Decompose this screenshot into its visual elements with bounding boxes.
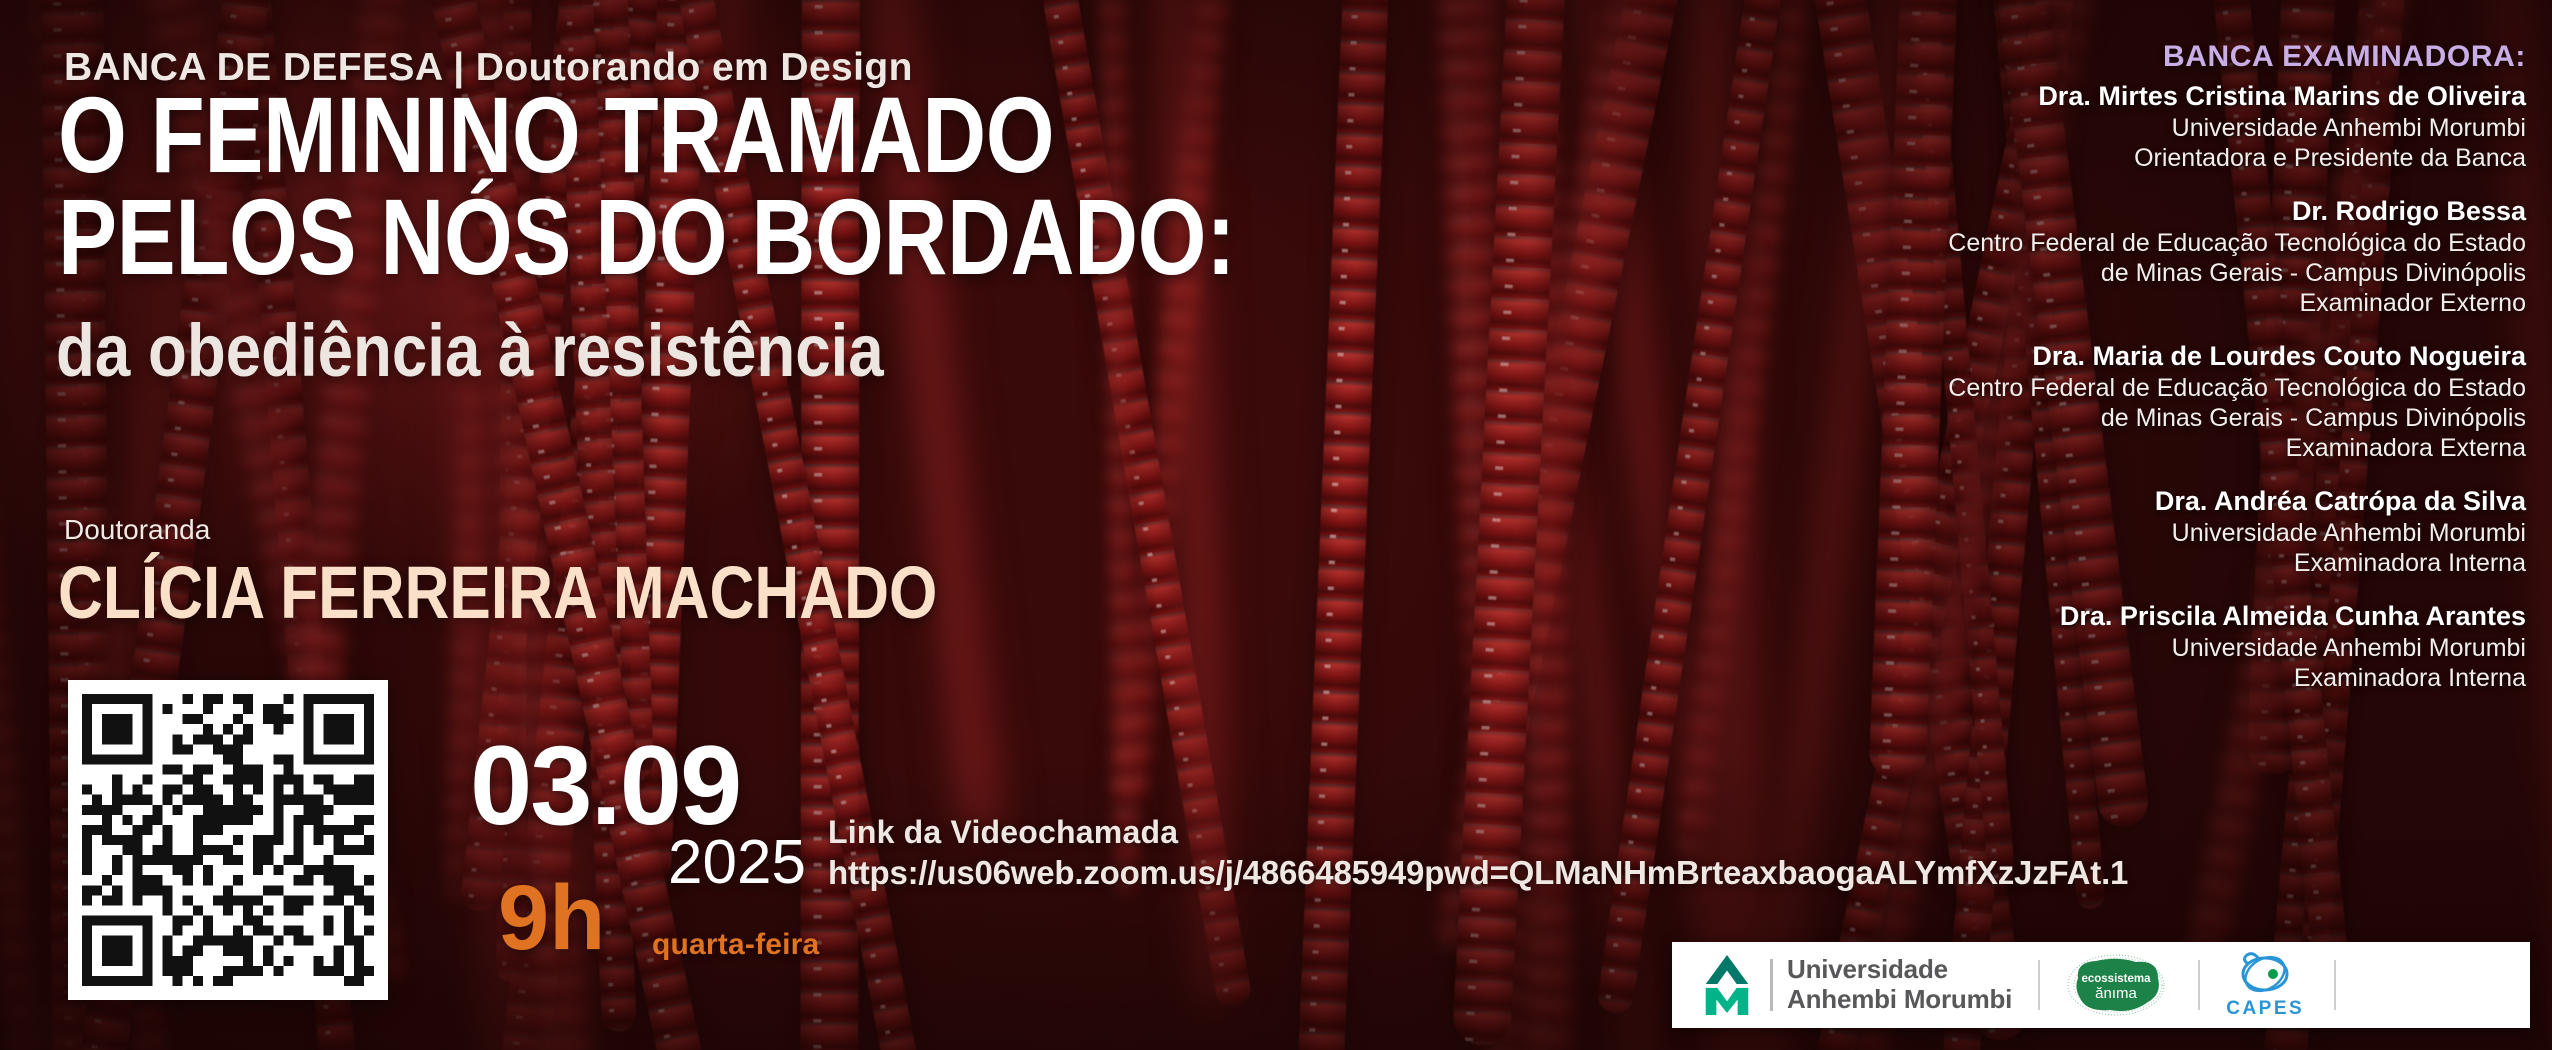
board-member-detail: Orientadora e Presidente da Banca (1886, 143, 2526, 173)
capes-logo: CAPES (2226, 950, 2304, 1020)
board-members-list: Dra. Mirtes Cristina Marins de OliveiraU… (1886, 80, 2526, 693)
board-member: Dr. Rodrigo BessaCentro Federal de Educa… (1886, 195, 2526, 318)
page-title: O FEMININO TRAMADO PELOS NÓS DO BORDADO: (58, 84, 1494, 287)
examination-board: BANCA EXAMINADORA: Dra. Mirtes Cristina … (1886, 40, 2526, 693)
event-weekday: quarta-feira (652, 928, 819, 962)
page-subtitle: da obediência à resistência (56, 314, 1018, 388)
board-member-name: Dra. Mirtes Cristina Marins de Oliveira (1886, 80, 2526, 113)
logo-separator-2 (2198, 960, 2200, 1010)
board-member-detail: Examinadora Interna (1886, 663, 2526, 693)
ecossistema-anima-logo: ecossistema ănıma (2066, 952, 2172, 1018)
anhembi-am-mark-icon (1698, 955, 1756, 1015)
qr-code-graphic (82, 694, 374, 986)
board-member-detail: Universidade Anhembi Morumbi (1886, 633, 2526, 663)
logo-separator-1 (2038, 960, 2040, 1010)
student-name: CLÍCIA FERREIRA MACHADO (58, 556, 1105, 630)
university-line-1: Universidade (1787, 955, 2012, 985)
title-line-1: O FEMININO TRAMADO (58, 84, 1235, 186)
capes-atom-icon (2229, 950, 2301, 996)
student-role-label: Doutoranda (64, 514, 210, 546)
board-member-detail: Examinador Externo (1886, 288, 2526, 318)
university-line-2: Anhembi Morumbi (1787, 985, 2012, 1015)
anima-line-2: ănıma (2095, 985, 2137, 1002)
board-member: Dra. Priscila Almeida Cunha ArantesUnive… (1886, 600, 2526, 693)
event-date-block: 03.09 2025 9h quarta-feira (470, 730, 830, 960)
board-member-detail: Universidade Anhembi Morumbi (1886, 113, 2526, 143)
board-member-name: Dra. Priscila Almeida Cunha Arantes (1886, 600, 2526, 633)
board-member-detail: Examinadora Interna (1886, 548, 2526, 578)
logo-rule-divider (1770, 959, 1773, 1011)
board-member: Dra. Mirtes Cristina Marins de OliveiraU… (1886, 80, 2526, 173)
board-member-detail: Centro Federal de Educação Tecnológica d… (1886, 228, 2526, 258)
board-member-detail: Universidade Anhembi Morumbi (1886, 518, 2526, 548)
event-hour: 9h (498, 872, 605, 964)
anhembi-morumbi-logo: Universidade Anhembi Morumbi (1698, 955, 2012, 1015)
videocall-link-block: Link da Videochamada https://us06web.zoo… (828, 812, 2128, 893)
anhembi-morumbi-text: Universidade Anhembi Morumbi (1787, 955, 2012, 1014)
logo-separator-3 (2334, 960, 2336, 1010)
board-member-detail: Centro Federal de Educação Tecnológica d… (1886, 373, 2526, 403)
board-heading: BANCA EXAMINADORA: (1886, 40, 2526, 74)
board-member: Dra. Maria de Lourdes Couto NogueiraCent… (1886, 340, 2526, 463)
board-member-name: Dra. Maria de Lourdes Couto Nogueira (1886, 340, 2526, 373)
board-member-detail: de Minas Gerais - Campus Divinópolis (1886, 403, 2526, 433)
event-year: 2025 (668, 832, 806, 894)
board-member: Dra. Andréa Catrópa da SilvaUniversidade… (1886, 485, 2526, 578)
videocall-label: Link da Videochamada (828, 812, 2128, 852)
subtitle-text: da obediência à resistência (56, 314, 884, 388)
student-name-text: CLÍCIA FERREIRA MACHADO (58, 556, 937, 630)
poster: BANCA DE DEFESA | Doutorando em Design O… (0, 0, 2552, 1050)
capes-wordmark: CAPES (2226, 998, 2304, 1020)
event-date: 03.09 (470, 730, 740, 842)
videocall-url[interactable]: https://us06web.zoom.us/j/4866485949pwd=… (828, 852, 2128, 893)
qr-code[interactable] (68, 680, 388, 1000)
board-member-name: Dra. Andréa Catrópa da Silva (1886, 485, 2526, 518)
logo-bar: Universidade Anhembi Morumbi ecossistema… (1672, 942, 2530, 1028)
board-member-detail: Examinadora Externa (1886, 433, 2526, 463)
anima-line-1: ecossistema (2082, 973, 2152, 985)
board-member-detail: de Minas Gerais - Campus Divinópolis (1886, 258, 2526, 288)
title-line-2: PELOS NÓS DO BORDADO: (58, 186, 1235, 288)
board-member-name: Dr. Rodrigo Bessa (1886, 195, 2526, 228)
